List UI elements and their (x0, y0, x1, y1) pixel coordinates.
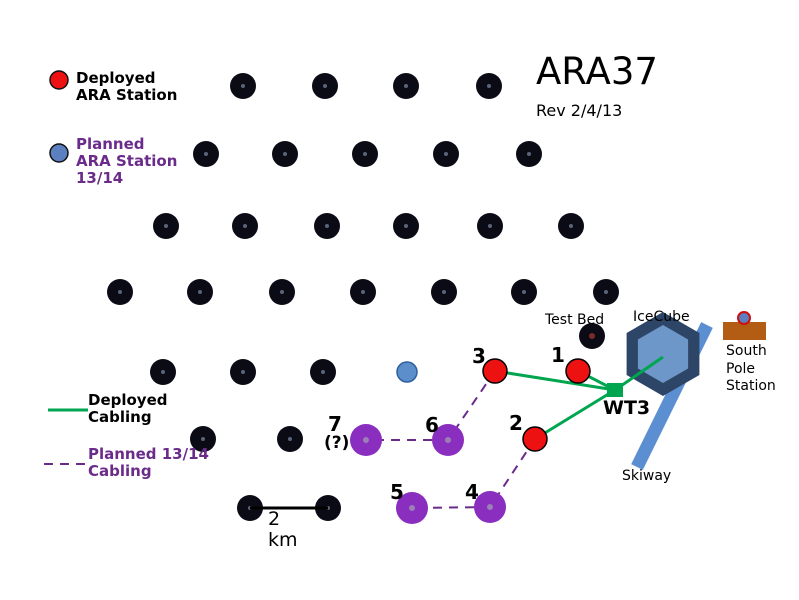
revision-label: Rev 2/4/13 (536, 102, 622, 120)
grid-station-core (404, 84, 408, 88)
grid-station-core (241, 370, 245, 374)
grid-station-core (604, 290, 608, 294)
grid-station-core (243, 224, 247, 228)
grid-station-core (321, 370, 325, 374)
icecube-label: IceCube (633, 310, 690, 326)
legend-deployed-cabling-label: Deployed Cabling (88, 392, 168, 426)
wt3-label: WT3 (603, 398, 650, 419)
deployed-station-number-3: 3 (472, 345, 486, 367)
grid-station-core (288, 437, 292, 441)
grid-station-core (283, 152, 287, 156)
legend-deployed-station-marker (50, 71, 68, 89)
legend-deployed-station-label: Deployed ARA Station (76, 70, 177, 104)
grid-station-core (444, 152, 448, 156)
grid-station-core (569, 224, 573, 228)
legend-planned-cabling-label: Planned 13/14 Cabling (88, 446, 209, 480)
grid-station-core (361, 290, 365, 294)
south-pole-station-label: South Pole Station (726, 343, 776, 396)
legend-planned-station-marker (50, 144, 68, 162)
grid-station-core (442, 290, 446, 294)
deployed-station-1[interactable] (566, 359, 590, 383)
grid-station-core (325, 224, 329, 228)
grid-station-core (363, 152, 367, 156)
legend-planned-station-label: Planned ARA Station 13/14 (76, 136, 177, 186)
planned-station-number-5: 5 (390, 481, 404, 503)
deployed-station-2[interactable] (523, 427, 547, 451)
scale-bar-label: 2 km (268, 509, 298, 551)
grid-station-core (404, 224, 408, 228)
grid-station-core (204, 152, 208, 156)
planned-station-number-4: 4 (465, 481, 479, 503)
grid-station-core (323, 84, 327, 88)
grid-station-core (198, 290, 202, 294)
planned-grid-station-dot[interactable] (397, 362, 417, 382)
grid-station-core (522, 290, 526, 294)
grid-station-core (527, 152, 531, 156)
planned-station-core-6 (445, 437, 451, 443)
grid-station-core (241, 84, 245, 88)
grid-station-core (161, 370, 165, 374)
skiway-label: Skiway (622, 469, 671, 485)
planned-station-number-6: 6 (425, 414, 439, 436)
test-bed-station-core (589, 333, 595, 339)
south-pole-marker-dot (738, 312, 750, 324)
grid-station-core (488, 224, 492, 228)
deployed-station-number-1: 1 (551, 344, 565, 366)
grid-station-core (164, 224, 168, 228)
ara37-map-figure: Deployed ARA Station Planned ARA Station… (0, 0, 799, 600)
wt3-node[interactable] (607, 383, 623, 397)
planned-station-core-4 (487, 504, 493, 510)
planned-station-sublabel-7: (?) (324, 434, 349, 453)
page-title: ARA37 (536, 51, 658, 92)
planned-station-core-5 (409, 505, 415, 511)
deployed-station-3[interactable] (483, 359, 507, 383)
planned-station-core-7 (363, 437, 369, 443)
deployed-station-number-2: 2 (509, 412, 523, 434)
grid-station-core (118, 290, 122, 294)
grid-station-core (280, 290, 284, 294)
grid-station-core (487, 84, 491, 88)
grid-station-core (201, 437, 205, 441)
test-bed-label: Test Bed (545, 313, 604, 329)
